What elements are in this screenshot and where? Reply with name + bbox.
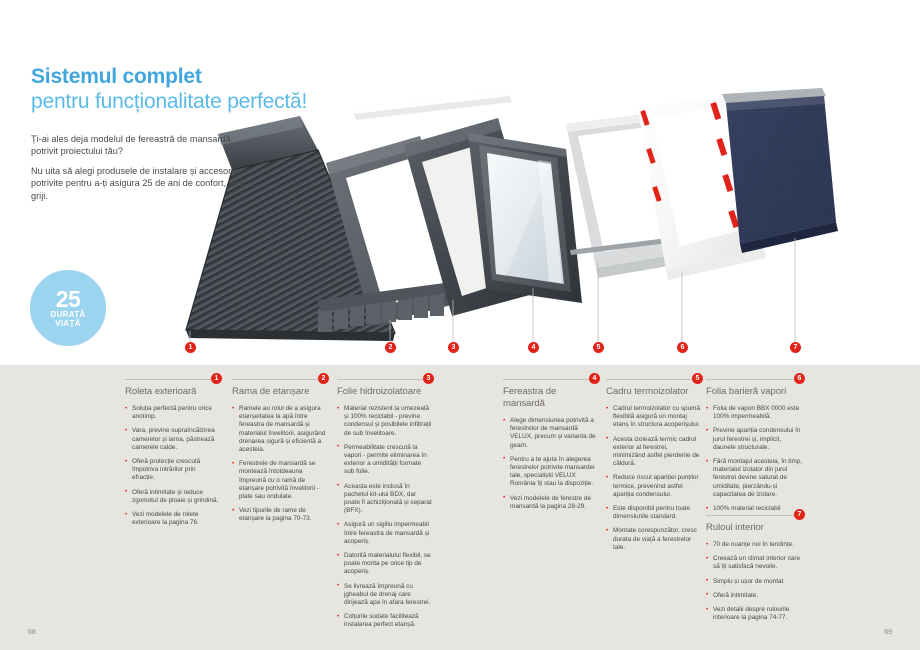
list-item: Pentru a te ajuta în alegerea ferestrelo…: [503, 456, 598, 489]
list-item: Vara, previne supraîncălzirea camerelor …: [125, 427, 220, 452]
list-item: Vezi detalii despre rulourile interioare…: [706, 606, 803, 622]
list-item: Montate corespunzător, cresc durata de v…: [606, 527, 701, 552]
callout-marker-4[interactable]: 4: [528, 342, 539, 353]
list-item: Previne apariția condensului în jurul fe…: [706, 427, 803, 452]
list-item: Soluția perfectă pentru orice anotimp.: [125, 405, 220, 421]
page-number-left: 68: [28, 629, 36, 636]
list-item: Creează un climat interior care să îți s…: [706, 555, 803, 571]
list-item: 100% material reciclabil: [706, 505, 803, 513]
list-item: Oferă intimitate.: [706, 592, 803, 600]
column-rule-7: 7: [706, 515, 803, 516]
callout-marker-3[interactable]: 3: [448, 342, 459, 353]
product-column-5: 5 Cadru termoizolator Cadrul termoizolat…: [606, 379, 701, 558]
intro-text: Ți-ai ales deja modelul de fereastră de …: [31, 133, 246, 202]
column-bullets-3: Material rezistent la umezeală și 100% r…: [337, 405, 432, 630]
list-item: Colțurile sudate facilitează instalarea …: [337, 613, 432, 629]
page-title: Sistemul complet pentru funcționalitate …: [31, 64, 321, 114]
list-item: Este disponibil pentru toate dimensiunil…: [606, 505, 701, 521]
callout-marker-5[interactable]: 5: [593, 342, 604, 353]
list-item: Se livrează împreună cu jgheabul de dren…: [337, 583, 432, 608]
column-title-3: Folie hidroizolatoare: [337, 386, 432, 398]
column-title-5: Cadru termoizolator: [606, 386, 701, 398]
list-item: Vezi modelele de ferestre de mansardă la…: [503, 495, 598, 511]
list-item: Alege dimensiunea potrivită a ferestrelo…: [503, 417, 598, 450]
product-column-1: 1 Roleta exterioară Soluția perfectă pen…: [125, 379, 220, 533]
list-item: Vezi modelele de rolete exterioare la pa…: [125, 511, 220, 527]
title-line-2: pentru funcționalitate perfectă!: [31, 89, 321, 114]
column-title-7: Ruloul interior: [706, 522, 803, 534]
page-number-right: 69: [884, 629, 892, 636]
list-item: Oferă protecție crescută împotriva intră…: [125, 458, 220, 483]
column-rule-2: 2: [232, 379, 327, 380]
hero-section: Sistemul complet pentru funcționalitate …: [0, 0, 920, 365]
column-bullets-1: Soluția perfectă pentru orice anotimp. V…: [125, 405, 220, 527]
list-item: Vezi tipurile de rame de etanșare la pag…: [232, 507, 327, 523]
list-item: Ferestrele de mansardă se montează întot…: [232, 460, 327, 501]
list-item: Datorită materialului flexibil, se poate…: [337, 552, 432, 577]
badge-line-2: VIAȚĂ: [55, 319, 81, 328]
callout-marker-1[interactable]: 1: [185, 342, 196, 353]
callout-marker-7[interactable]: 7: [790, 342, 801, 353]
list-item: Aceasta este inclusă în pachetul kit-ulu…: [337, 483, 432, 516]
column-bullets-6: Folia de vapori BBX 0000 este 100% imper…: [706, 405, 803, 513]
list-item: Reduce riscul apariției punților termice…: [606, 474, 701, 499]
list-item: Material rezistent la umezeală și 100% r…: [337, 405, 432, 438]
title-line-1: Sistemul complet: [31, 64, 321, 89]
column-rule-4: 4: [503, 379, 598, 380]
art-roof-window: [468, 133, 582, 303]
list-item: Fără montajul acesteia, în timp, materia…: [706, 458, 803, 499]
product-column-3: 3 Folie hidroizolatoare Material reziste…: [337, 379, 432, 636]
column-rule-1: 1: [125, 379, 220, 380]
column-title-6: Folia barieră vapori: [706, 386, 803, 398]
badge-number: 25: [56, 289, 81, 310]
list-item: 70 de nuanțe noi în tendințe.: [706, 541, 803, 549]
column-title-1: Roleta exterioară: [125, 386, 220, 398]
column-bullets-7: 70 de nuanțe noi în tendințe. Creează un…: [706, 541, 803, 622]
list-item: Cadrul termoizolator cu spumă flexibilă …: [606, 405, 701, 430]
column-badge-4: 4: [589, 373, 600, 384]
column-title-2: Rama de etanșare: [232, 386, 327, 398]
product-column-4: 4 Fereastra de mansardă Alege dimensiune…: [503, 379, 598, 517]
column-badge-6: 6: [794, 373, 805, 384]
column-badge-2: 2: [318, 373, 329, 384]
catalog-page: Sistemul complet pentru funcționalitate …: [0, 0, 920, 650]
list-item: Asigură un sigiliu impermeabil între fer…: [337, 521, 432, 546]
column-rule-3: 3: [337, 379, 432, 380]
column-badge-3: 3: [423, 373, 434, 384]
column-bullets-5: Cadrul termoizolator cu spumă flexibilă …: [606, 405, 701, 552]
product-column-2: 2 Rama de etanșare Ramele au rolul de a …: [232, 379, 327, 530]
list-item: Simplu și ușor de montat: [706, 578, 803, 586]
column-bullets-4: Alege dimensiunea potrivită a ferestrelo…: [503, 417, 598, 511]
column-badge-5: 5: [692, 373, 703, 384]
product-column-6: 6 Folia barieră vapori Folia de vapori B…: [706, 379, 803, 519]
column-bullets-2: Ramele au rolul de a asigura etanșeitate…: [232, 405, 327, 524]
column-badge-7: 7: [794, 509, 805, 520]
intro-paragraph-1: Ți-ai ales deja modelul de fereastră de …: [31, 133, 246, 158]
column-rule-6: 6: [706, 379, 803, 380]
list-item: Permeabilitate crescută la vapori - perm…: [337, 444, 432, 477]
callout-marker-2[interactable]: 2: [385, 342, 396, 353]
list-item: Oferă intimitate și reduce zgomotul de p…: [125, 489, 220, 505]
intro-paragraph-2: Nu uita să alegi produsele de instalare …: [31, 165, 246, 202]
column-badge-1: 1: [211, 373, 222, 384]
badge-line-1: DURATĂ: [51, 310, 86, 319]
list-item: Folia de vapori BBX 0000 este 100% imper…: [706, 405, 803, 421]
callout-marker-6[interactable]: 6: [677, 342, 688, 353]
column-title-4: Fereastra de mansardă: [503, 386, 598, 410]
art-interior-blind: [722, 88, 838, 253]
product-column-7: 7 Ruloul interior 70 de nuanțe noi în te…: [706, 515, 803, 628]
product-detail-band: 1 Roleta exterioară Soluția perfectă pen…: [0, 365, 920, 650]
column-rule-5: 5: [606, 379, 701, 380]
list-item: Acesta izolează termic cadrul exterior a…: [606, 436, 701, 469]
list-item: Ramele au rolul de a asigura etanșeitate…: [232, 405, 327, 454]
warranty-badge: 25 DURATĂ VIAȚĂ: [30, 270, 106, 346]
